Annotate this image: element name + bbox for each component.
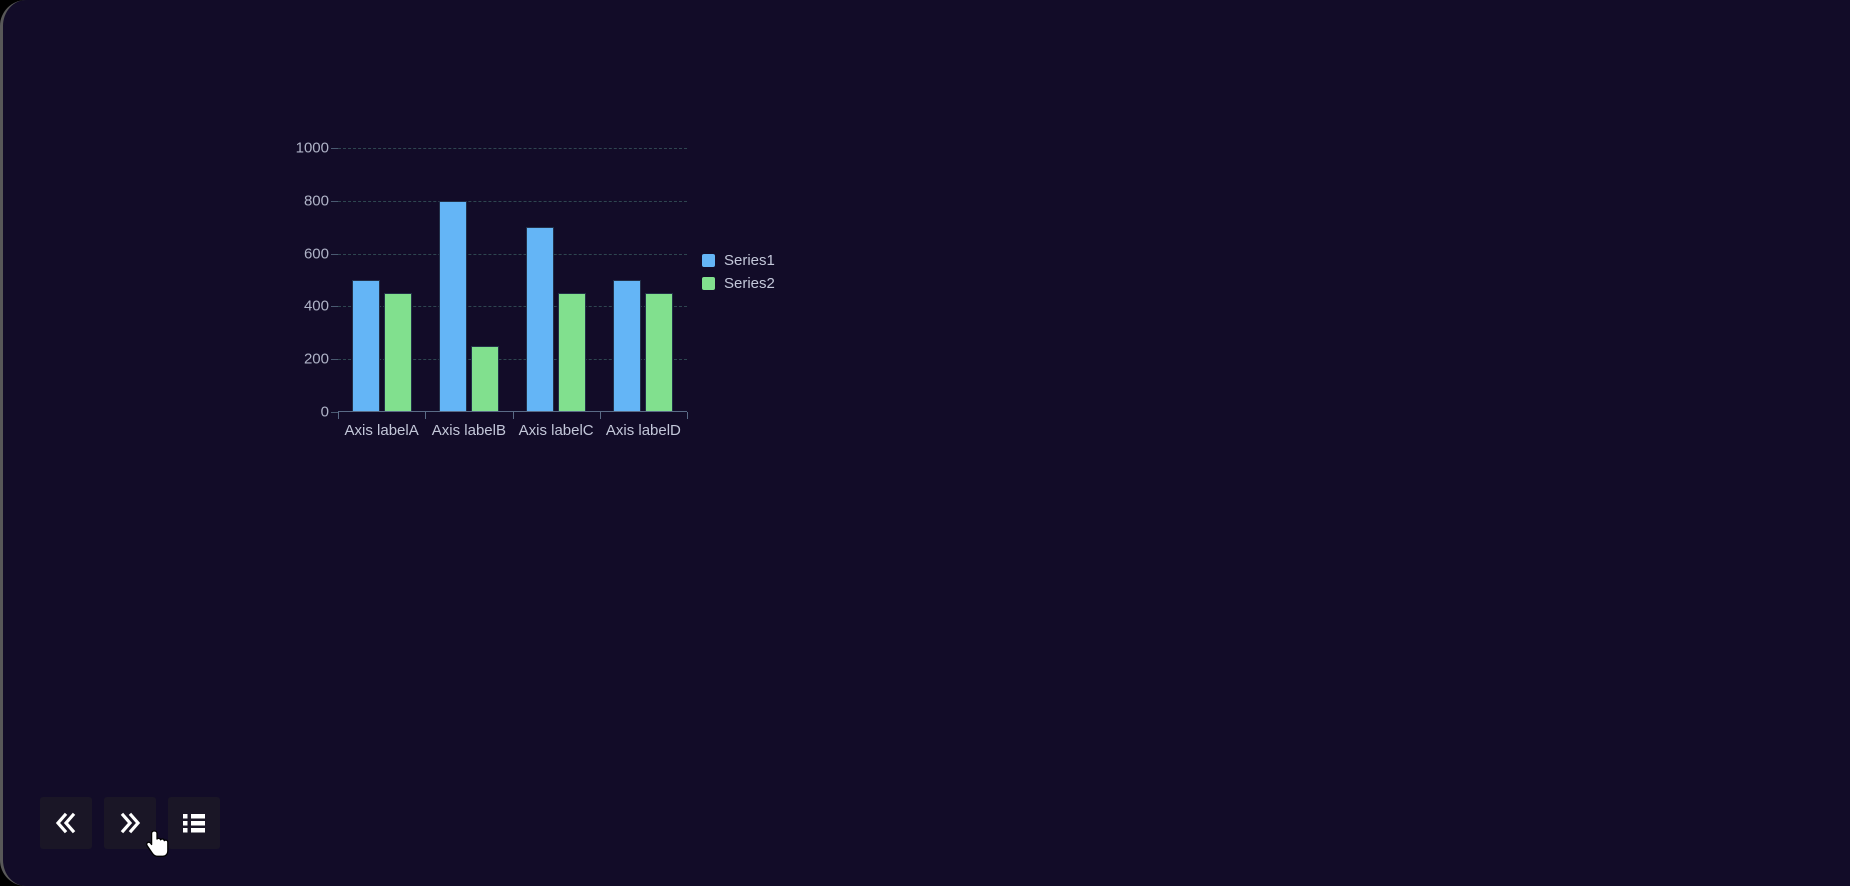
bar-chart: 02004006008001000 Axis labelAAxis labelB… <box>293 130 813 450</box>
bar[interactable] <box>613 280 641 412</box>
list-button[interactable] <box>168 797 220 849</box>
gridline <box>338 201 687 202</box>
x-axis-tick-label: Axis labelA <box>345 422 419 439</box>
legend-swatch-icon <box>702 277 715 290</box>
bottom-toolbar <box>40 797 220 849</box>
chevron-double-right-icon <box>115 808 145 838</box>
y-axis-tick-mark <box>331 412 338 413</box>
gridline <box>338 254 687 255</box>
y-axis-tick-mark <box>331 306 338 307</box>
legend-swatch-icon <box>702 254 715 267</box>
legend-item[interactable]: Series1 <box>702 252 775 269</box>
x-axis-tick-label: Axis labelD <box>606 422 681 439</box>
chart-legend: Series1Series2 <box>702 252 775 292</box>
x-axis-tick-label: Axis labelC <box>519 422 594 439</box>
x-axis-separator-tick <box>425 412 426 419</box>
bar[interactable] <box>352 280 380 412</box>
x-axis-separator-tick <box>513 412 514 419</box>
x-axis-separator-tick <box>687 412 688 419</box>
chevron-double-left-icon <box>51 808 81 838</box>
legend-label: Series2 <box>724 275 775 292</box>
bar[interactable] <box>645 293 673 412</box>
y-axis-tick-label: 400 <box>304 298 329 315</box>
y-axis-tick-mark <box>331 359 338 360</box>
y-axis-tick-mark <box>331 254 338 255</box>
legend-label: Series1 <box>724 252 775 269</box>
y-axis-tick-label: 0 <box>321 404 329 421</box>
previous-button[interactable] <box>40 797 92 849</box>
bar[interactable] <box>558 293 586 412</box>
y-axis-tick-mark <box>331 148 338 149</box>
plot-area: 02004006008001000 Axis labelAAxis labelB… <box>338 148 687 412</box>
list-icon <box>180 809 208 837</box>
y-axis-tick-label: 600 <box>304 245 329 262</box>
x-axis-separator-tick <box>600 412 601 419</box>
y-axis-tick-mark <box>331 201 338 202</box>
x-axis-separator-tick <box>338 412 339 419</box>
gridline <box>338 148 687 149</box>
y-axis-tick-label: 200 <box>304 351 329 368</box>
bar[interactable] <box>384 293 412 412</box>
legend-item[interactable]: Series2 <box>702 275 775 292</box>
y-axis-tick-label: 1000 <box>296 140 329 157</box>
y-axis-tick-label: 800 <box>304 192 329 209</box>
bar[interactable] <box>439 201 467 412</box>
bar[interactable] <box>471 346 499 412</box>
x-axis-tick-label: Axis labelB <box>432 422 506 439</box>
next-button[interactable] <box>104 797 156 849</box>
bar[interactable] <box>526 227 554 412</box>
app-window: 02004006008001000 Axis labelAAxis labelB… <box>0 0 1850 886</box>
